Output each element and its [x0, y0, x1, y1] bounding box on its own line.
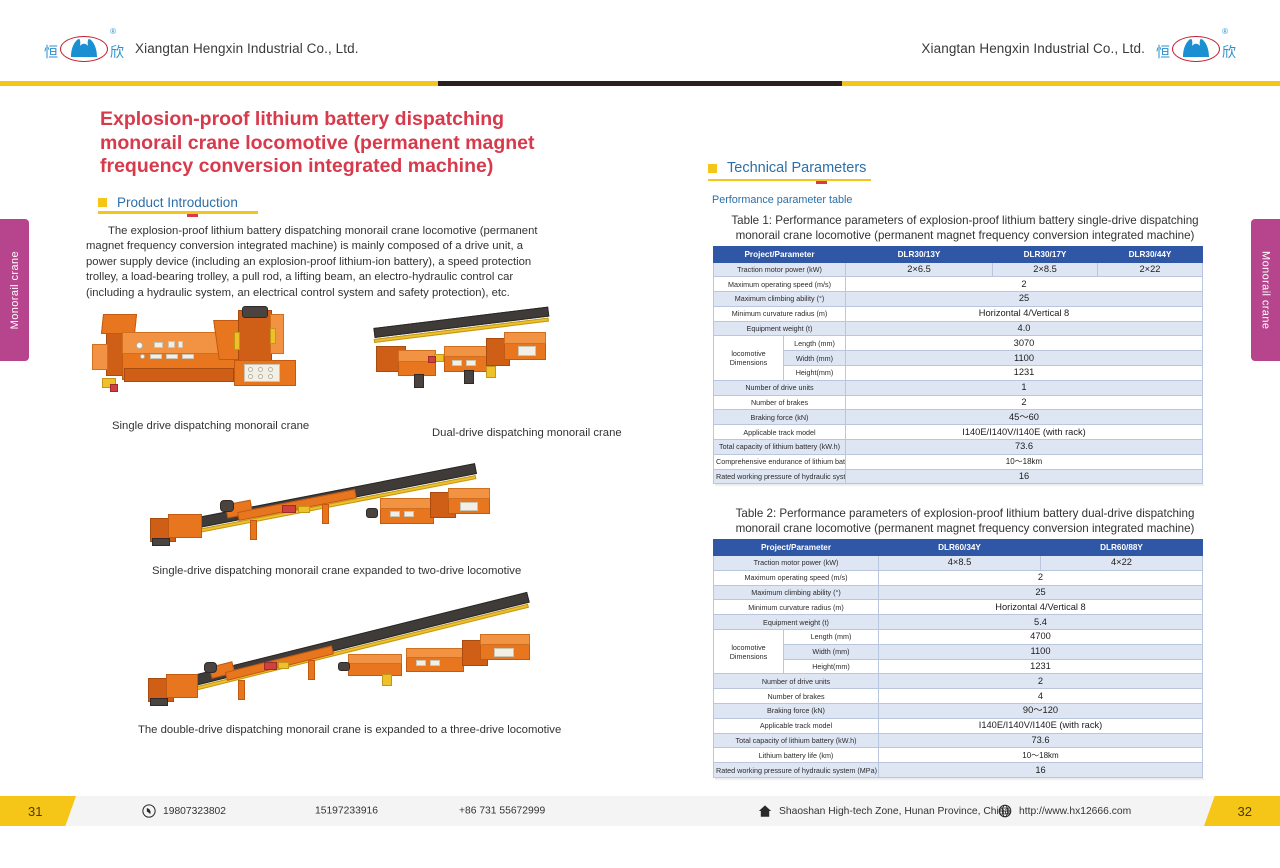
header-rule-dark-left — [438, 81, 640, 86]
table1-header-2: DLR30/17Y — [993, 247, 1098, 263]
side-tab-left[interactable]: Monorail crane — [0, 219, 29, 361]
registered-icon-2: ® — [1222, 27, 1228, 36]
table1-dim0-label: Length (mm) — [784, 336, 846, 351]
caption-photo-4: The double-drive dispatching monorail cr… — [138, 724, 561, 736]
table-row: Project/Parameter DLR30/13Y DLR30/17Y DL… — [714, 247, 1203, 263]
table1-shadow — [715, 484, 1204, 487]
table2-row3-v0: Horizontal 4/Vertical 8 — [879, 600, 1203, 615]
company-logo-icon: 恒 ® 欣 — [42, 30, 126, 66]
table2-row4-v0: 5.4 — [879, 615, 1203, 630]
table-row: Traction motor power (kW) 2×6.5 2×8.5 2×… — [714, 262, 1203, 277]
table1-tail6-value: 16 — [846, 469, 1203, 484]
table2-tail4-value: 73.6 — [879, 733, 1203, 748]
table1-tail5-value: 10～18km — [846, 454, 1203, 469]
table1-row1-v0: 2 — [846, 277, 1203, 292]
table1-tail1-value: 2 — [846, 395, 1203, 410]
table2-row3-label: Minimum curvature radius (m) — [714, 600, 879, 615]
table2-row0-v0: 4×8.5 — [879, 555, 1041, 570]
table1-dim-group: locomotive Dimensions — [714, 336, 784, 380]
caption-photo-3: Single-drive dispatching monorail crane … — [152, 565, 521, 577]
table1-header-1: DLR30/13Y — [846, 247, 993, 263]
table2-header-0: Project/Parameter — [714, 540, 879, 556]
table2-tail2-value: 90～120 — [879, 703, 1203, 718]
table-row: Minimum curvature radius (m) Horizontal … — [714, 306, 1203, 321]
table2-shadow — [715, 778, 1204, 781]
table-row: Height(mm) 1231 — [714, 366, 1203, 381]
table1-tail6-label: Rated working pressure of hydraulic syst… — [714, 469, 846, 484]
table-row: Rated working pressure of hydraulic syst… — [714, 763, 1203, 778]
table2-header-1: DLR60/34Y — [879, 540, 1041, 556]
bullet-square-icon-2 — [708, 164, 717, 173]
table-performance-2: Project/Parameter DLR60/34Y DLR60/88Y Tr… — [713, 539, 1203, 777]
logo-mountain-icon — [69, 37, 99, 59]
table1-row0-v0: 2×6.5 — [846, 262, 993, 277]
table2-dim-group: locomotive Dimensions — [714, 629, 784, 673]
footer-phone-1-label: 19807323802 — [163, 806, 226, 817]
table1-tail0-label: Number of drive units — [714, 380, 846, 395]
caption-photo-2: Dual-drive dispatching monorail crane — [432, 427, 622, 439]
table1-tail0-value: 1 — [846, 380, 1203, 395]
table2-tail6-label: Rated working pressure of hydraulic syst… — [714, 763, 879, 778]
phone-icon — [142, 804, 156, 818]
table2-dim2-label: Height(mm) — [784, 659, 879, 674]
table2-tail5-value: 10～18km — [879, 748, 1203, 763]
table2-row0-v1: 4×22 — [1041, 555, 1203, 570]
photo-three-drive-expanded — [142, 620, 562, 720]
table-performance-1: Project/Parameter DLR30/13Y DLR30/17Y DL… — [713, 246, 1203, 484]
section-label-product-introduction: Product Introduction — [117, 195, 238, 210]
table1-dim1-value: 1100 — [846, 351, 1203, 366]
table2-tail6-value: 16 — [879, 763, 1203, 778]
table2-tail4-label: Total capacity of lithium battery (kW.h) — [714, 733, 879, 748]
table-row: Project/Parameter DLR60/34Y DLR60/88Y — [714, 540, 1203, 556]
table2-wrapper: Project/Parameter DLR60/34Y DLR60/88Y Tr… — [700, 539, 1210, 777]
table-row: Total capacity of lithium battery (kW.h)… — [714, 733, 1203, 748]
bullet-square-icon — [98, 198, 107, 207]
table2-tail3-value: I140E/I140V/I140E (with rack) — [879, 718, 1203, 733]
table1-tail4-label: Total capacity of lithium battery (kW.h) — [714, 440, 846, 455]
table1-tail4-value: 73.6 — [846, 440, 1203, 455]
table2-tail1-label: Number of brakes — [714, 689, 879, 704]
page-title: Explosion-proof lithium battery dispatch… — [100, 108, 570, 179]
side-tab-right-label: Monorail crane — [1260, 251, 1272, 329]
table1-tail5-label: Comprehensive endurance of lithium batte… — [714, 454, 846, 469]
table1-dim2-value: 1231 — [846, 366, 1203, 381]
table-row: Width (mm) 1100 — [714, 351, 1203, 366]
table-row: Comprehensive endurance of lithium batte… — [714, 454, 1203, 469]
product-introduction-heading: Product Introduction — [98, 195, 283, 210]
table1-header-3: DLR30/44Y — [1098, 247, 1203, 263]
logo-mountain-icon-2 — [1181, 37, 1211, 59]
table-row: locomotive Dimensions Length (mm) 4700 — [714, 629, 1203, 644]
page-number-left-label: 31 — [28, 804, 42, 819]
logo-cjk-left: 恒 — [44, 42, 58, 62]
table-row: Maximum climbing ability (°) 25 — [714, 292, 1203, 307]
table2-tail1-value: 4 — [879, 689, 1203, 704]
product-introduction-body: The explosion-proof lithium battery disp… — [86, 224, 556, 302]
page-header: 恒 ® 欣 Xiangtan Hengxin Industrial Co., L… — [0, 0, 1280, 88]
footer-phone-3: +86 731 55672999 — [459, 806, 545, 817]
side-tab-right[interactable]: Monorail crane — [1251, 219, 1280, 361]
table2-dim0-label: Length (mm) — [784, 629, 879, 644]
table1-row4-label: Equipment weight (t) — [714, 321, 846, 336]
table-row: Number of brakes 4 — [714, 689, 1203, 704]
table1-row0-label: Traction motor power (kW) — [714, 262, 846, 277]
table-row: Number of drive units 1 — [714, 380, 1203, 395]
table2-row2-v0: 25 — [879, 585, 1203, 600]
table-row: Number of drive units 2 — [714, 674, 1203, 689]
company-logo-icon-right: 恒 ® 欣 — [1154, 30, 1238, 66]
table2-tail3-label: Applicable track model — [714, 718, 879, 733]
footer-address: Shaoshan High-tech Zone, Hunan Province,… — [758, 804, 1010, 818]
table-row: Minimum curvature radius (m) Horizontal … — [714, 600, 1203, 615]
photo-single-drive-crane — [88, 302, 320, 412]
table2-row2-label: Maximum climbing ability (°) — [714, 585, 879, 600]
technical-parameters-heading: Technical Parameters — [708, 160, 908, 176]
table-row: Equipment weight (t) 4.0 — [714, 321, 1203, 336]
table-row: Traction motor power (kW) 4×8.5 4×22 — [714, 555, 1203, 570]
table2-dim2-value: 1231 — [879, 659, 1203, 674]
table-row: Number of brakes 2 — [714, 395, 1203, 410]
table1-dim2-label: Height(mm) — [784, 366, 846, 381]
table-row: Equipment weight (t) 5.4 — [714, 615, 1203, 630]
page-number-right: 32 — [1204, 796, 1280, 826]
table1-tail3-label: Applicable track model — [714, 425, 846, 440]
footer-phone-3-label: +86 731 55672999 — [459, 806, 545, 817]
table2-dim0-value: 4700 — [879, 629, 1203, 644]
right-column: Technical Parameters Performance paramet… — [700, 160, 1210, 778]
table1-row4-v0: 4.0 — [846, 321, 1203, 336]
table1-tail2-value: 45～60 — [846, 410, 1203, 425]
table1-row1-label: Maximum operating speed (m/s) — [714, 277, 846, 292]
table1-row3-label: Minimum curvature radius (m) — [714, 306, 846, 321]
footer-website-label: http://www.hx12666.com — [1019, 806, 1131, 817]
table-row: Width (mm) 1100 — [714, 644, 1203, 659]
footer-phone-2-label: 15197233916 — [315, 806, 378, 817]
company-name-left: Xiangtan Hengxin Industrial Co., Ltd. — [135, 41, 359, 56]
tech-underline — [708, 179, 871, 181]
photo-dual-drive-crane — [368, 306, 558, 406]
table-row: Applicable track model I140E/I140V/I140E… — [714, 425, 1203, 440]
home-icon — [758, 804, 772, 818]
logo-cjk-right: 欣 — [110, 42, 124, 62]
table2-dim1-value: 1100 — [879, 644, 1203, 659]
table2-row4-label: Equipment weight (t) — [714, 615, 879, 630]
registered-icon: ® — [110, 27, 116, 36]
table-row: Lithium battery life (km) 10～18km — [714, 748, 1203, 763]
table-row: Total capacity of lithium battery (kW.h)… — [714, 440, 1203, 455]
brand-left: 恒 ® 欣 Xiangtan Hengxin Industrial Co., L… — [42, 30, 359, 66]
table1-tail3-value: I140E/I140V/I140E (with rack) — [846, 425, 1203, 440]
table1-wrapper: Project/Parameter DLR30/13Y DLR30/17Y DL… — [700, 246, 1210, 484]
table1-row0-v1: 2×8.5 — [993, 262, 1098, 277]
section-label-technical-parameters: Technical Parameters — [727, 160, 866, 176]
table2-tail2-label: Braking force (kN) — [714, 703, 879, 718]
table2-row1-v0: 2 — [879, 570, 1203, 585]
table2-row1-label: Maximum operating speed (m/s) — [714, 570, 879, 585]
left-column: Explosion-proof lithium battery dispatch… — [86, 108, 646, 301]
table1-header-0: Project/Parameter — [714, 247, 846, 263]
logo-cjk-right-2: 欣 — [1222, 42, 1236, 62]
performance-parameter-table-label: Performance parameter table — [712, 194, 1210, 206]
footer-phone-2: 15197233916 — [315, 806, 378, 817]
globe-icon — [998, 804, 1012, 818]
table2-title: Table 2: Performance parameters of explo… — [700, 507, 1210, 536]
table2-row0-label: Traction motor power (kW) — [714, 555, 879, 570]
table-row: Maximum operating speed (m/s) 2 — [714, 570, 1203, 585]
logo-cjk-left-2: 恒 — [1156, 42, 1170, 62]
table-row: Braking force (kN) 90～120 — [714, 703, 1203, 718]
section-underline — [98, 211, 258, 213]
table1-dim1-label: Width (mm) — [784, 351, 846, 366]
table1-dim0-value: 3070 — [846, 336, 1203, 351]
side-tab-left-label: Monorail crane — [9, 251, 21, 329]
table1-row2-label: Maximum climbing ability (°) — [714, 292, 846, 307]
photo-two-drive-expanded — [142, 478, 510, 562]
table-row: Applicable track model I140E/I140V/I140E… — [714, 718, 1203, 733]
footer-phone-1: 19807323802 — [142, 804, 226, 818]
table2-tail0-value: 2 — [879, 674, 1203, 689]
table-row: Maximum operating speed (m/s) 2 — [714, 277, 1203, 292]
section-dash-accent — [187, 214, 198, 217]
table-row: Braking force (kN) 45～60 — [714, 410, 1203, 425]
page-number-right-label: 32 — [1238, 804, 1252, 819]
table-row: locomotive Dimensions Length (mm) 3070 — [714, 336, 1203, 351]
table2-header-2: DLR60/88Y — [1041, 540, 1203, 556]
table2-tail5-label: Lithium battery life (km) — [714, 748, 879, 763]
tech-dash-accent — [816, 181, 827, 184]
table2-tail0-label: Number of drive units — [714, 674, 879, 689]
table-row: Rated working pressure of hydraulic syst… — [714, 469, 1203, 484]
table-row: Height(mm) 1231 — [714, 659, 1203, 674]
table1-title: Table 1: Performance parameters of explo… — [700, 214, 1210, 243]
page-number-left: 31 — [0, 796, 76, 826]
table1-row3-v0: Horizontal 4/Vertical 8 — [846, 306, 1203, 321]
header-rule-dark-right — [640, 81, 842, 86]
footer-address-label: Shaoshan High-tech Zone, Hunan Province,… — [779, 806, 1010, 817]
table2-dim1-label: Width (mm) — [784, 644, 879, 659]
table-row: Maximum climbing ability (°) 25 — [714, 585, 1203, 600]
table1-row0-v2: 2×22 — [1098, 262, 1203, 277]
table1-tail2-label: Braking force (kN) — [714, 410, 846, 425]
company-name-right: Xiangtan Hengxin Industrial Co., Ltd. — [921, 41, 1145, 56]
caption-photo-1: Single drive dispatching monorail crane — [112, 420, 309, 432]
table1-row2-v0: 25 — [846, 292, 1203, 307]
footer-website[interactable]: http://www.hx12666.com — [998, 804, 1131, 818]
brand-right: Xiangtan Hengxin Industrial Co., Ltd. 恒 … — [921, 30, 1238, 66]
table1-tail1-label: Number of brakes — [714, 395, 846, 410]
